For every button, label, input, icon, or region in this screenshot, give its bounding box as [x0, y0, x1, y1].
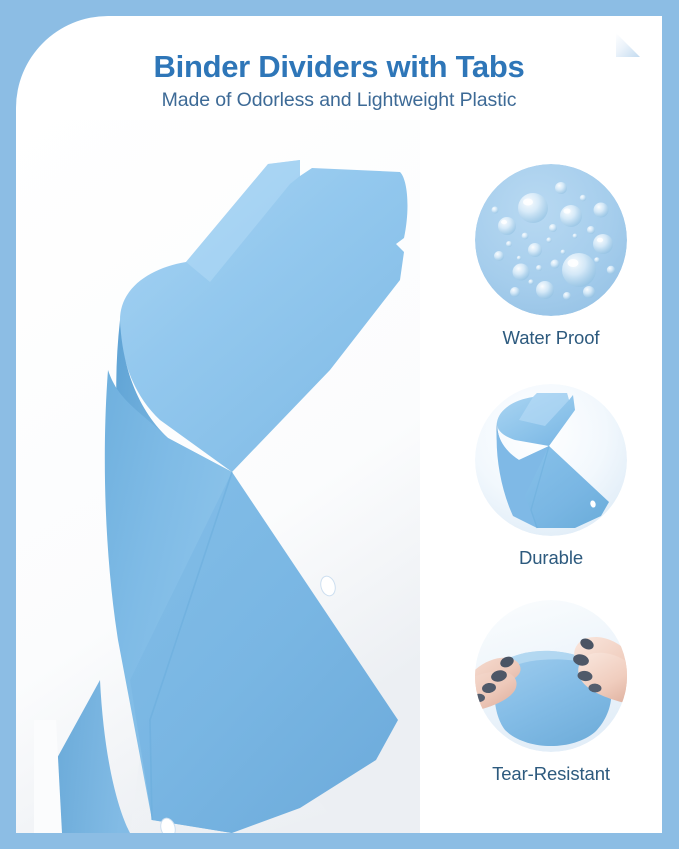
page-title: Binder Dividers with Tabs	[16, 50, 662, 85]
product-infographic-poster: Binder Dividers with Tabs Made of Odorle…	[0, 0, 679, 849]
curled-plastic-divider-image	[16, 120, 420, 833]
feature-item-water-proof: Water Proof	[440, 164, 662, 349]
feature-item-durable: Durable	[440, 384, 662, 569]
page-subtitle: Made of Odorless and Lightweight Plastic	[16, 89, 662, 112]
feature-item-tear-resistant: Tear-Resistant	[440, 600, 662, 785]
feature-label-tear-resistant: Tear-Resistant	[440, 763, 662, 785]
hands-pulling-sheet-icon	[475, 600, 627, 752]
feature-list: Water Proof	[440, 164, 662, 824]
feature-label-water-proof: Water Proof	[440, 327, 662, 349]
feature-label-durable: Durable	[440, 547, 662, 569]
curled-sheet-icon	[475, 384, 627, 536]
water-droplets-icon	[475, 164, 627, 316]
poster-card: Binder Dividers with Tabs Made of Odorle…	[16, 16, 662, 833]
heading-block: Binder Dividers with Tabs Made of Odorle…	[16, 50, 662, 112]
